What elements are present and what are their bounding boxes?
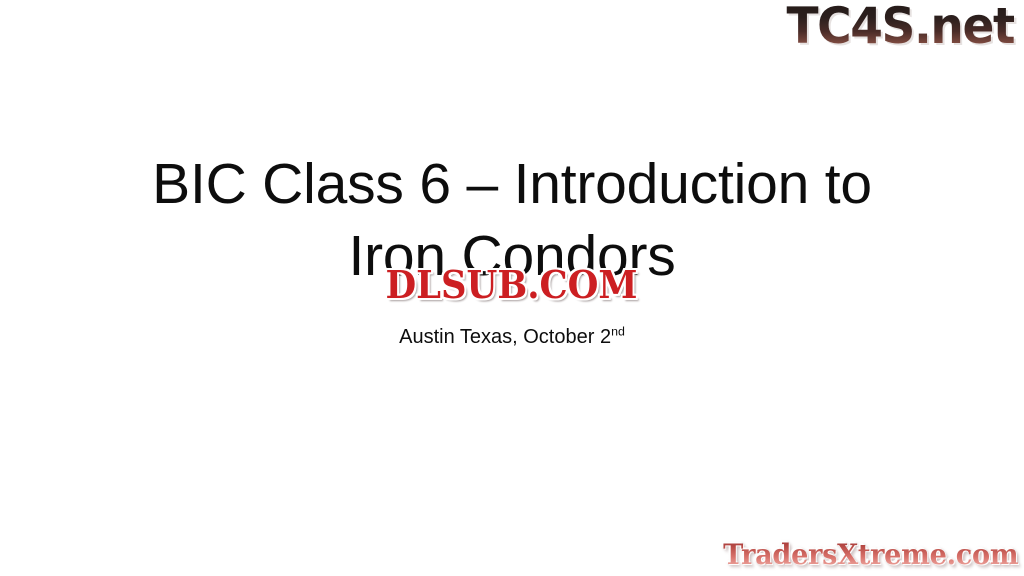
slide-subtitle-ordinal-suffix: nd <box>611 324 625 338</box>
title-block: BIC Class 6 – Introduction to Iron Condo… <box>0 148 1024 292</box>
tc4s-logo: TC4S.net <box>787 0 1014 53</box>
slide-subtitle: Austin Texas, October 2nd <box>0 324 1024 350</box>
slide-title: BIC Class 6 – Introduction to Iron Condo… <box>0 148 1024 292</box>
tradersxtreme-logo-text: TradersXtreme.com <box>723 538 1018 571</box>
subtitle-block: Austin Texas, October 2nd <box>0 324 1024 350</box>
presentation-slide: TC4S.net TC4S.net BIC Class 6 – Introduc… <box>0 0 1024 576</box>
slide-subtitle-main: Austin Texas, October 2 <box>399 326 611 348</box>
tradersxtreme-logo: TradersXtreme.com <box>723 539 1018 571</box>
